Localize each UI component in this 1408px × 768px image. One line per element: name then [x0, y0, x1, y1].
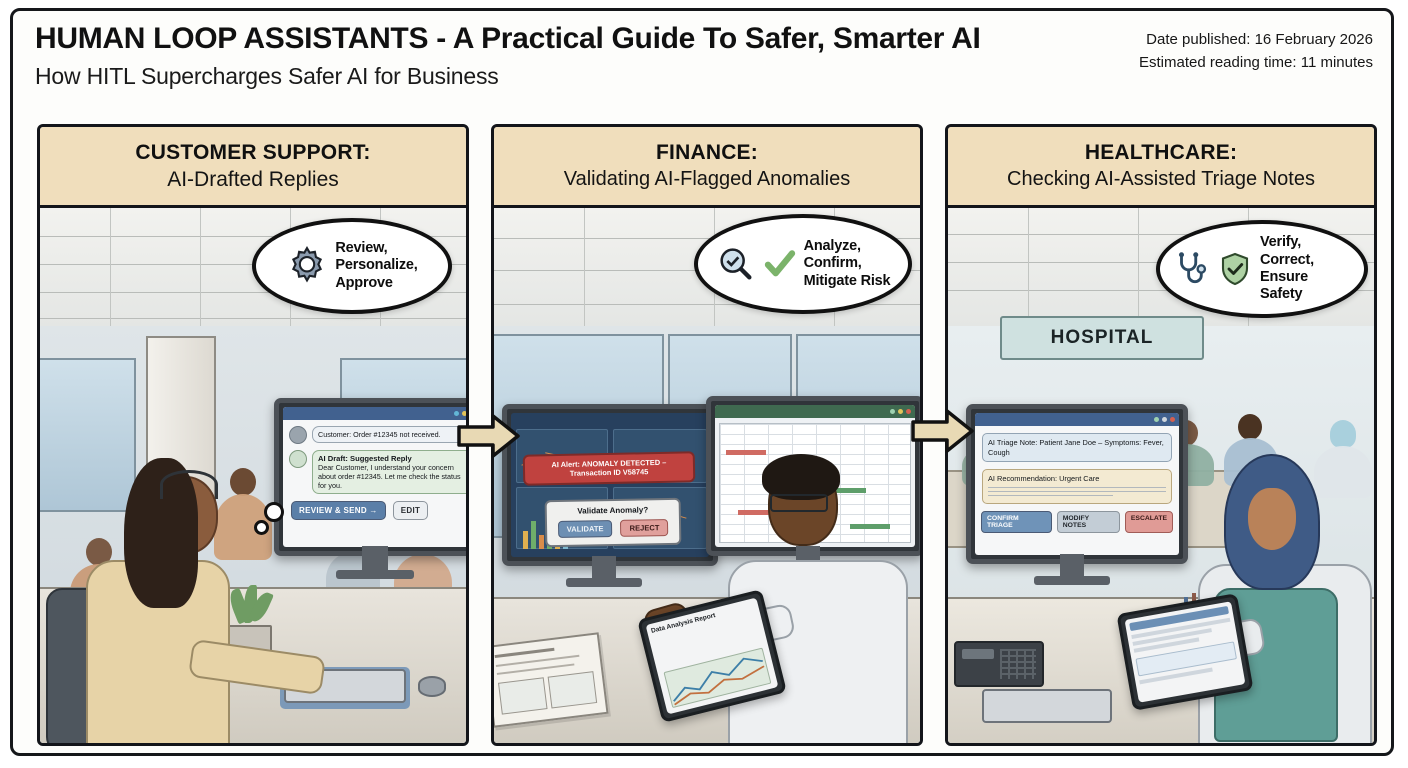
header: HUMAN LOOP ASSISTANTS - A Practical Guid… [35, 23, 1373, 109]
window-maximize-dot[interactable] [898, 409, 903, 414]
ai-draft-body: Dear Customer, I understand your concern… [318, 463, 461, 490]
panel-3-speech-bubble: Verify, Correct, Ensure Safety [1156, 220, 1368, 318]
printed-report [494, 632, 609, 728]
panel-1-speech-bubble: Review, Personalize, Approve [252, 218, 452, 314]
window-titlebar [975, 413, 1179, 426]
dialog-question: Validate Anomaly? [553, 505, 673, 516]
bubble-line-1: Review, [335, 240, 387, 256]
bubble-line-3: Mitigate Risk [804, 273, 891, 289]
check-mark-icon [763, 247, 797, 281]
tablet-chart [663, 648, 771, 709]
review-and-send-button[interactable]: REVIEW & SEND → [291, 501, 386, 520]
panel-2-title: FINANCE: [656, 141, 758, 165]
keyboard[interactable] [982, 689, 1112, 723]
bubble-line-3: Approve [335, 275, 392, 291]
validate-anomaly-dialog: Validate Anomaly? VALIDATE REJECT [545, 498, 682, 547]
tablet-screen [1125, 601, 1246, 702]
panel-2-bubble-text: Analyze, Confirm, Mitigate Risk [804, 238, 891, 290]
panel-2-band: FINANCE: Validating AI-Flagged Anomalies [494, 127, 920, 208]
triage-action-buttons: CONFIRM TRIAGE MODIFY NOTES ESCALATE [981, 511, 1173, 533]
ai-triage-note: AI Triage Note: Patient Jane Doe – Sympt… [982, 433, 1172, 462]
dialog-buttons: VALIDATE REJECT [553, 519, 673, 538]
infographic-frame: HUMAN LOOP ASSISTANTS - A Practical Guid… [10, 8, 1394, 756]
panel-healthcare: HEALTHCARE: Checking AI-Assisted Triage … [945, 124, 1377, 746]
window-maximize-dot[interactable] [1162, 417, 1167, 422]
panel-3-subtitle: Checking AI-Assisted Triage Notes [1007, 168, 1315, 191]
ai-anomaly-alert: AI Alert: ANOMALY DETECTED – Transaction… [523, 451, 696, 485]
reading-time: Estimated reading time: 11 minutes [1139, 52, 1373, 75]
desk-phone[interactable] [954, 641, 1044, 687]
window-close-dot[interactable] [1170, 417, 1175, 422]
tablet-screen: Data Analysis Report [646, 598, 779, 715]
escalate-button[interactable]: ESCALATE [1125, 511, 1173, 533]
panel-1-band: CUSTOMER SUPPORT: AI-Drafted Replies [40, 127, 466, 208]
edit-button[interactable]: EDIT [393, 501, 428, 520]
panel-1-scene: Customer: Order #12345 not received. AI … [40, 208, 466, 746]
panel-1-subtitle: AI-Drafted Replies [167, 168, 339, 192]
panel-2-speech-bubble: Analyze, Confirm, Mitigate Risk [694, 214, 912, 314]
triage-monitor: AI Triage Note: Patient Jane Doe – Sympt… [966, 404, 1188, 564]
panel-finance: FINANCE: Validating AI-Flagged Anomalies [491, 124, 923, 746]
bubble-line-2: Correct, [1260, 252, 1314, 268]
panel-1-title: CUSTOMER SUPPORT: [135, 141, 370, 165]
clinician-tablet[interactable] [1116, 593, 1253, 711]
monitor-screen: Customer: Order #12345 not received. AI … [283, 407, 466, 547]
window-minimize-dot[interactable] [1154, 417, 1159, 422]
mouse[interactable] [418, 676, 446, 697]
gear-icon [286, 245, 328, 287]
ai-draft-bubble: AI Draft: Suggested Reply Dear Customer,… [312, 450, 466, 494]
bubble-line-2: Personalize, [335, 257, 417, 273]
stethoscope-icon [1172, 250, 1210, 288]
confirm-triage-button[interactable]: CONFIRM TRIAGE [981, 511, 1052, 533]
window-minimize-dot[interactable] [890, 409, 895, 414]
date-published: Date published: 16 February 2026 [1139, 29, 1373, 52]
eyeglasses-icon [770, 494, 828, 512]
arrow-finance-to-healthcare [911, 406, 975, 456]
panel-customer-support: CUSTOMER SUPPORT: AI-Drafted Replies [37, 124, 469, 746]
panel-3-title: HEALTHCARE: [1085, 141, 1237, 165]
ai-recommendation: AI Recommendation: Urgent Care [982, 469, 1172, 504]
bubble-line-3: Ensure Safety [1260, 269, 1308, 302]
panel-1-bubble-text: Review, Personalize, Approve [335, 240, 417, 292]
triage-screen: AI Triage Note: Patient Jane Doe – Sympt… [975, 413, 1179, 555]
ai-draft-heading: AI Draft: Suggested Reply [318, 454, 412, 463]
panel-2-subtitle: Validating AI-Flagged Anomalies [564, 168, 850, 191]
thought-dot-small [254, 520, 269, 535]
customer-message-row: Customer: Order #12345 not received. [289, 426, 466, 444]
bubble-line-1: Verify, [1260, 234, 1301, 250]
finance-monitor-left: AI Alert: ANOMALY DETECTED – Transaction… [502, 404, 718, 566]
ai-recommendation-text: AI Recommendation: Urgent Care [988, 474, 1099, 483]
panel-3-bubble-text: Verify, Correct, Ensure Safety [1260, 234, 1352, 304]
panel-3-band: HEALTHCARE: Checking AI-Assisted Triage … [948, 127, 1374, 208]
thought-dot-large [264, 502, 284, 522]
shield-check-icon [1217, 251, 1253, 287]
header-meta: Date published: 16 February 2026 Estimat… [1139, 29, 1373, 74]
panel-2-scene: AI Alert: ANOMALY DETECTED – Transaction… [494, 208, 920, 746]
hospital-sign-text: HOSPITAL [1051, 327, 1154, 349]
bubble-line-2: Confirm, [804, 255, 862, 271]
panel-3-scene: HOSPITAL [948, 208, 1374, 746]
note-lines [988, 487, 1166, 496]
draft-action-buttons: REVIEW & SEND → EDIT [291, 501, 466, 520]
reject-button[interactable]: REJECT [620, 519, 668, 537]
finance-screen: AI Alert: ANOMALY DETECTED – Transaction… [511, 413, 709, 557]
hospital-sign: HOSPITAL [1000, 316, 1204, 360]
validate-button[interactable]: VALIDATE [558, 520, 613, 538]
customer-avatar [289, 426, 307, 444]
customer-message: Customer: Order #12345 not received. [312, 426, 466, 443]
bubble-line-1: Analyze, [804, 238, 861, 254]
arrow-support-to-finance [457, 411, 521, 461]
magnifier-check-icon [716, 244, 756, 284]
modify-notes-button[interactable]: MODIFY NOTES [1057, 511, 1120, 533]
panel-row: CUSTOMER SUPPORT: AI-Drafted Replies [37, 116, 1377, 746]
ai-draft-row: AI Draft: Suggested Reply Dear Customer,… [289, 450, 466, 494]
window-titlebar [283, 407, 466, 420]
ai-avatar-icon [289, 450, 307, 468]
desktop-monitor: Customer: Order #12345 not received. AI … [274, 398, 466, 556]
